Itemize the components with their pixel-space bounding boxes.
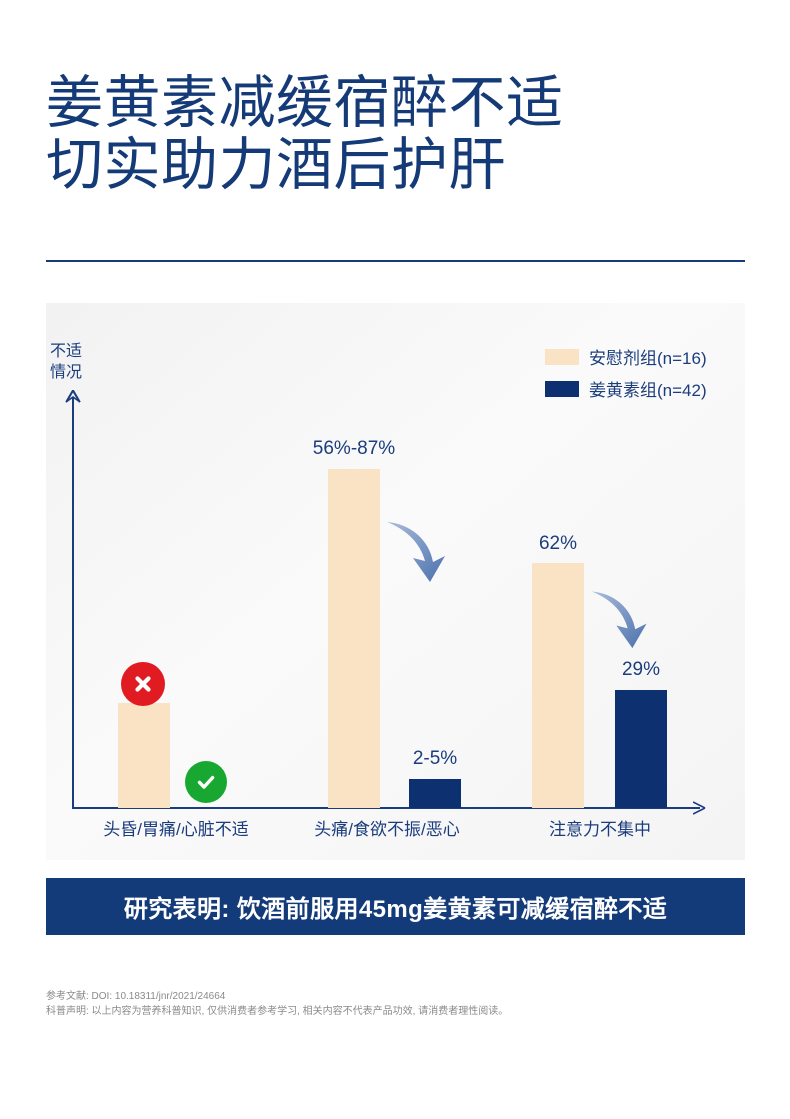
legend-item-curcumin: 姜黄素组(n=42) [545, 376, 707, 401]
legend-swatch-curcumin [545, 381, 579, 397]
infographic-page: { "title": { "line1": "姜黄素减缓宿醉不适", "line… [0, 0, 790, 1119]
bar-curcumin-group2 [409, 779, 461, 808]
x-axis-arrow-icon [693, 801, 707, 815]
y-axis-label-char-1: 不适 [50, 341, 82, 362]
y-axis-label: 不适 情况 [50, 341, 82, 383]
y-axis-arrow-icon [65, 390, 81, 404]
datalabel-placebo-group2: 56%-87% [278, 438, 430, 460]
footnote-disclaimer: 科普声明: 以上内容为营养科普知识, 仅供消费者参考学习, 相关内容不代表产品功… [46, 1004, 746, 1019]
legend-label-placebo: 安慰剂组(n=16) [589, 344, 707, 369]
bar-placebo-group3 [532, 563, 584, 808]
datalabel-curcumin-group2: 2-5% [385, 748, 485, 770]
page-title: 姜黄素减缓宿醉不适 切实助力酒后护肝 [46, 72, 746, 196]
datalabel-curcumin-group3: 29% [591, 659, 691, 681]
datalabel-placebo-group3: 62% [508, 533, 608, 555]
x-circle-icon [121, 662, 165, 706]
footnotes: 参考文献: DOI: 10.18311/jnr/2021/24664 科普声明:… [46, 989, 746, 1019]
legend-item-placebo: 安慰剂组(n=16) [545, 344, 707, 369]
footnote-reference: 参考文献: DOI: 10.18311/jnr/2021/24664 [46, 989, 746, 1004]
bar-curcumin-group3 [615, 690, 667, 808]
chart-legend: 安慰剂组(n=16) 姜黄素组(n=42) [545, 344, 707, 408]
y-axis-line [72, 397, 74, 809]
title-line-2: 切实助力酒后护肝 [46, 134, 746, 196]
conclusion-banner: 研究表明: 饮酒前服用45mg姜黄素可减缓宿醉不适 [46, 878, 745, 935]
conclusion-banner-text: 研究表明: 饮酒前服用45mg姜黄素可减缓宿醉不适 [124, 889, 667, 924]
check-circle-icon [185, 761, 227, 803]
curved-down-arrow-icon-1 [383, 512, 455, 586]
curved-down-arrow-icon-2 [588, 582, 656, 652]
bar-placebo-group1 [118, 703, 170, 808]
legend-label-curcumin: 姜黄素组(n=42) [589, 376, 707, 401]
category-label-2: 头痛/食欲不振/恶心 [282, 815, 492, 840]
title-divider [46, 260, 745, 262]
legend-swatch-placebo [545, 349, 579, 365]
y-axis-label-char-2: 情况 [50, 362, 82, 383]
title-line-1: 姜黄素减缓宿醉不适 [46, 72, 746, 134]
category-label-3: 注意力不集中 [525, 815, 675, 840]
bar-placebo-group2 [328, 469, 380, 808]
category-label-1: 头昏/胃痛/心脏不适 [62, 815, 290, 840]
